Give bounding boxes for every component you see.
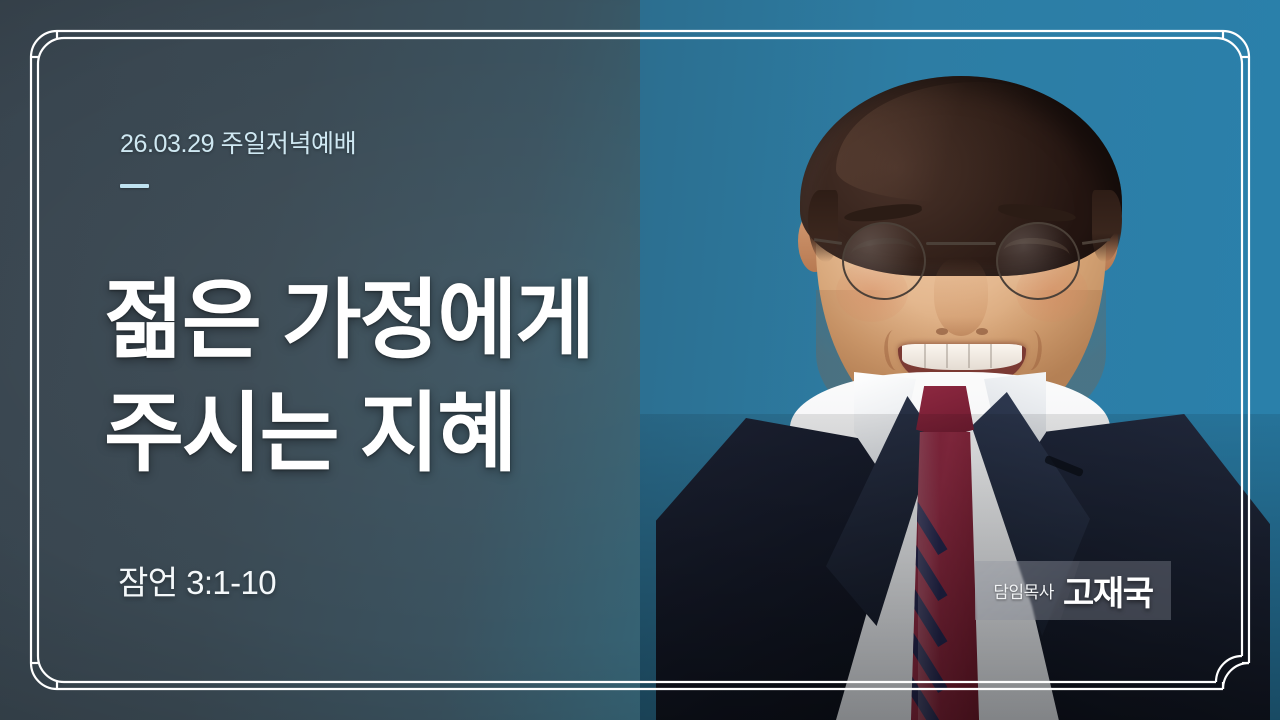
teeth-shape [902,344,1022,370]
glasses-icon [818,214,1106,306]
divider-rule [120,184,149,188]
sermon-title-slide: 26.03.29 주일저녁예배 젊은 가정에게 주시는 지혜 잠언 3:1-10… [0,0,1280,720]
speaker-name: 고재국 [1063,566,1153,615]
pastor-portrait [640,0,1280,720]
title-line-2: 주시는 지혜 [104,377,593,490]
necktie-knot [916,386,974,438]
title-line-1: 젊은 가정에게 [104,264,593,377]
necktie [908,432,982,720]
nostril-left [936,328,948,335]
glasses-temple-left [814,238,842,244]
service-date-label: 26.03.29 주일저녁예배 [120,124,356,160]
scripture-reference: 잠언 3:1-10 [118,556,276,604]
speaker-badge: 담임목사 고재국 [975,561,1171,620]
nostril-right [976,328,988,335]
lens-left [842,222,926,300]
necktie-highlight [918,432,940,720]
page-title: 젊은 가정에게 주시는 지혜 [104,264,593,490]
portrait-figure [640,0,1280,720]
glasses-temple-right [1082,238,1110,244]
lens-right [996,222,1080,300]
glasses-bridge [926,242,996,245]
speaker-role: 담임목사 [993,578,1054,603]
